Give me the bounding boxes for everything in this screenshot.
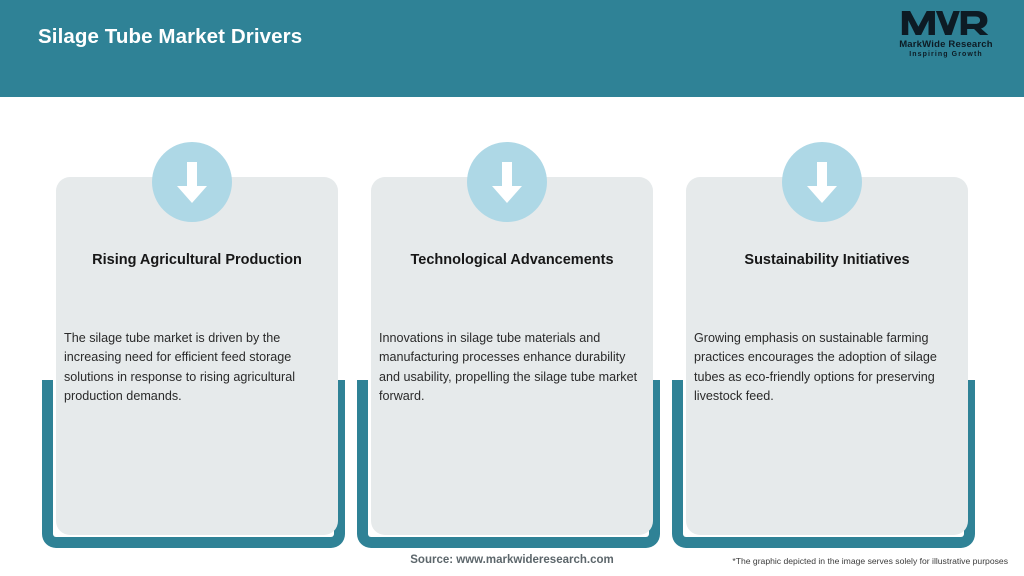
card-body: Growing emphasis on sustainable farming … [694,329,962,406]
icon-circle [152,142,232,222]
arrow-down-icon [805,160,839,204]
driver-card-3: Sustainability Initiatives Growing empha… [654,0,974,576]
footer-disclaimer-label: *The graphic depicted in the image serve… [732,556,1008,566]
card-heading: Rising Agricultural Production [56,250,338,270]
arrow-down-icon [175,160,209,204]
card-heading: Sustainability Initiatives [686,250,968,270]
arrow-down-icon [490,160,524,204]
card-heading: Technological Advancements [371,250,653,270]
icon-circle [782,142,862,222]
icon-circle [467,142,547,222]
driver-card-1: Rising Agricultural Production The silag… [24,0,344,576]
driver-card-2: Technological Advancements Innovations i… [339,0,659,576]
card-body: Innovations in silage tube materials and… [379,329,647,406]
card-body: The silage tube market is driven by the … [64,329,332,406]
